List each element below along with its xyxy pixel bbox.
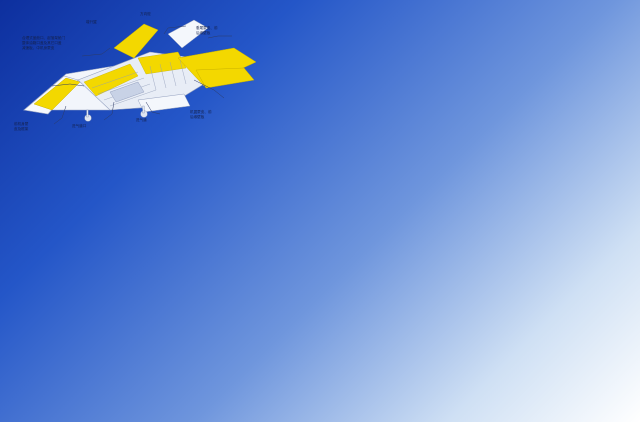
diagram-label-top-mid: 增升翼 bbox=[86, 20, 97, 25]
f22-jet-illustration bbox=[18, 14, 262, 132]
right-horizontal-stabilizer bbox=[196, 68, 254, 88]
diagram-label-forward-fuselage: 前机身蒙 皮及框架 bbox=[14, 122, 28, 132]
f22-composite-diagram: 合理式盖舱口、起落架舱门 整体油箱口盖及其它口盖 减速板、中机身蒙皮 增升翼 方… bbox=[0, 0, 282, 152]
diagram-label-fin-skin: 垂尾蒙皮、前 后缘壁板 bbox=[196, 26, 218, 36]
diagram-label-rudder: 方向舵 bbox=[140, 12, 151, 17]
slide-root: 国外概况—美国: 1）ACEE计划（1976-1986）：开始尝试将复合材料应用… bbox=[0, 0, 640, 422]
diagram-label-left-block: 合理式盖舱口、起落架舱门 整体油箱口盖及其它口盖 减速板、中机身蒙皮 bbox=[22, 36, 65, 51]
diagram-label-wing-skin: 机翼蒙皮、前 后缘壁板 bbox=[190, 110, 212, 120]
diagram-label-intake-inlet: 进气道口 bbox=[72, 124, 86, 129]
diagram-label-intake: 进气道 bbox=[136, 118, 147, 123]
